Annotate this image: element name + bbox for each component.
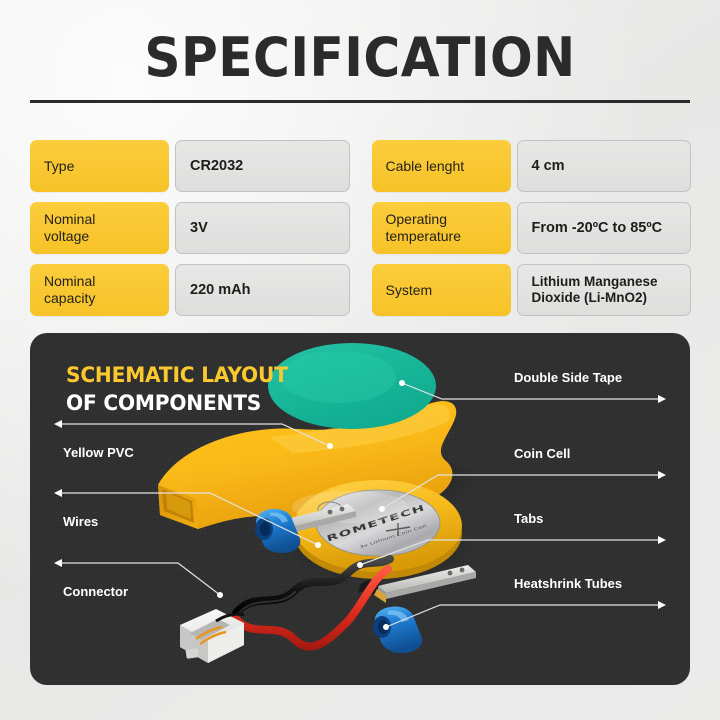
spec-value: 4 cm <box>517 140 692 192</box>
spec-row: Cable lenght 4 cm <box>372 140 692 192</box>
schematic-heading-line1: SCHEMATIC LAYOUT <box>66 363 288 388</box>
page-title: SPECIFICATION <box>25 28 695 88</box>
spec-label: System <box>372 264 511 316</box>
spec-label: Cable lenght <box>372 140 511 192</box>
callout-label-tabs: Tabs <box>514 511 543 527</box>
callout-label-connector: Connector <box>63 584 128 600</box>
spec-label: Nominalcapacity <box>30 264 169 316</box>
spec-row: Operatingtemperature From -20ºC to 85ºC <box>372 202 692 254</box>
spec-column-right: Cable lenght 4 cm Operatingtemperature F… <box>372 140 692 316</box>
spec-label: Operatingtemperature <box>372 202 511 254</box>
schematic-heading-line2: OF COMPONENTS <box>66 391 288 416</box>
specification-page: SPECIFICATION Type CR2032 Nominalvoltage… <box>0 0 720 720</box>
spec-value: From -20ºC to 85ºC <box>517 202 692 254</box>
spec-row: Nominalcapacity 220 mAh <box>30 264 350 316</box>
spec-value: Lithium ManganeseDioxide (Li-MnO2) <box>517 264 692 316</box>
spec-value: 3V <box>175 202 350 254</box>
callout-label-coin-cell: Coin Cell <box>514 446 570 462</box>
callout-label-wires: Wires <box>63 514 98 530</box>
callout-label-yellow-pvc: Yellow PVC <box>63 445 134 461</box>
spec-label: Type <box>30 140 169 192</box>
schematic-panel: SCHEMATIC LAYOUT OF COMPONENTS <box>30 333 690 685</box>
spec-value: CR2032 <box>175 140 350 192</box>
spec-row: Nominalvoltage 3V <box>30 202 350 254</box>
spec-label: Nominalvoltage <box>30 202 169 254</box>
callout-label-double-side-tape: Double Side Tape <box>514 370 622 386</box>
spec-row: Type CR2032 <box>30 140 350 192</box>
schematic-heading: SCHEMATIC LAYOUT OF COMPONENTS <box>66 363 297 416</box>
spec-row: System Lithium ManganeseDioxide (Li-MnO2… <box>372 264 692 316</box>
spec-column-left: Type CR2032 Nominalvoltage 3V Nominalcap… <box>30 140 350 316</box>
specification-table: Type CR2032 Nominalvoltage 3V Nominalcap… <box>30 140 691 316</box>
title-divider <box>30 100 690 103</box>
spec-value: 220 mAh <box>175 264 350 316</box>
heatshrink-tube-lower <box>373 607 422 653</box>
callout-label-heatshrink-tubes: Heatshrink Tubes <box>514 576 622 592</box>
